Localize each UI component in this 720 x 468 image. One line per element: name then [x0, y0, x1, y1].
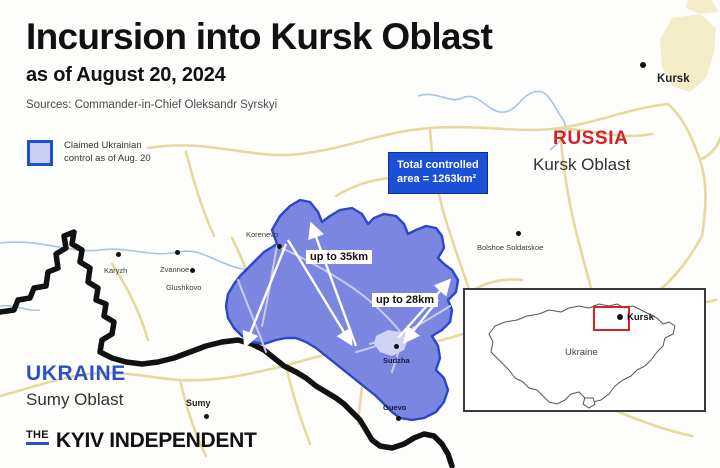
sources-line: Sources: Commander-in-Chief Oleksandr Sy… [26, 99, 492, 111]
inset-kursk-label: Kursk [627, 312, 654, 323]
legend-label-line2: control as of Aug. 20 [64, 153, 151, 166]
city-label: Korenevo [246, 230, 278, 239]
callout-line2: area = 1263km² [397, 172, 479, 186]
page-subtitle: as of August 20, 2024 [26, 64, 492, 87]
city-dot [190, 268, 195, 273]
logo-name: KYIV INDEPENDENT [56, 430, 257, 451]
distance-label-28km: up to 28km [372, 293, 438, 307]
legend-label: Claimed Ukrainian control as of Aug. 20 [64, 140, 151, 166]
city-dot-kursk [640, 62, 646, 68]
city-label: Karyzh [104, 266, 127, 275]
label-sumy-oblast: Sumy Oblast [26, 390, 123, 410]
infographic-root: Incursion into Kursk Oblast as of August… [0, 0, 720, 468]
distance-label-35km: up to 35km [306, 250, 372, 264]
kyiv-independent-logo: THE KYIV INDEPENDENT [26, 430, 256, 451]
total-area-callout: Total controlled area = 1263km² [388, 152, 488, 194]
city-label-sumy: Sumy [186, 398, 211, 408]
callout-line1: Total controlled [397, 158, 479, 172]
city-label: Zvannoe [160, 265, 189, 274]
city-label: Bolshoe Soldatskoe [477, 243, 543, 252]
label-kursk-oblast: Kursk Oblast [533, 155, 630, 175]
label-russia: RUSSIA [553, 128, 628, 150]
page-title: Incursion into Kursk Oblast [26, 18, 492, 55]
inset-highlight-box [593, 306, 630, 331]
city-dot-sumy [204, 414, 209, 419]
city-dot [175, 250, 180, 255]
city-dot [516, 231, 521, 236]
legend-label-line1: Claimed Ukrainian [64, 140, 151, 153]
city-dot [116, 252, 121, 257]
legend-swatch-controlled [27, 140, 53, 166]
inset-country-label: Ukraine [565, 347, 598, 358]
inset-kursk-dot [617, 314, 623, 320]
legend: Claimed Ukrainian control as of Aug. 20 [27, 140, 151, 166]
label-ukraine: UKRAINE [26, 362, 126, 386]
city-dot [277, 244, 282, 249]
logo-the: THE [26, 430, 49, 445]
inset-map-ukraine: Kursk Ukraine [463, 288, 706, 412]
city-label-kursk: Kursk [657, 73, 690, 85]
title-block: Incursion into Kursk Oblast as of August… [26, 18, 492, 111]
city-label: Guevo [383, 403, 406, 412]
city-label: Sudzha [383, 356, 410, 365]
city-dot [394, 344, 399, 349]
city-dot [396, 416, 401, 421]
city-label: Glushkovo [166, 283, 201, 292]
